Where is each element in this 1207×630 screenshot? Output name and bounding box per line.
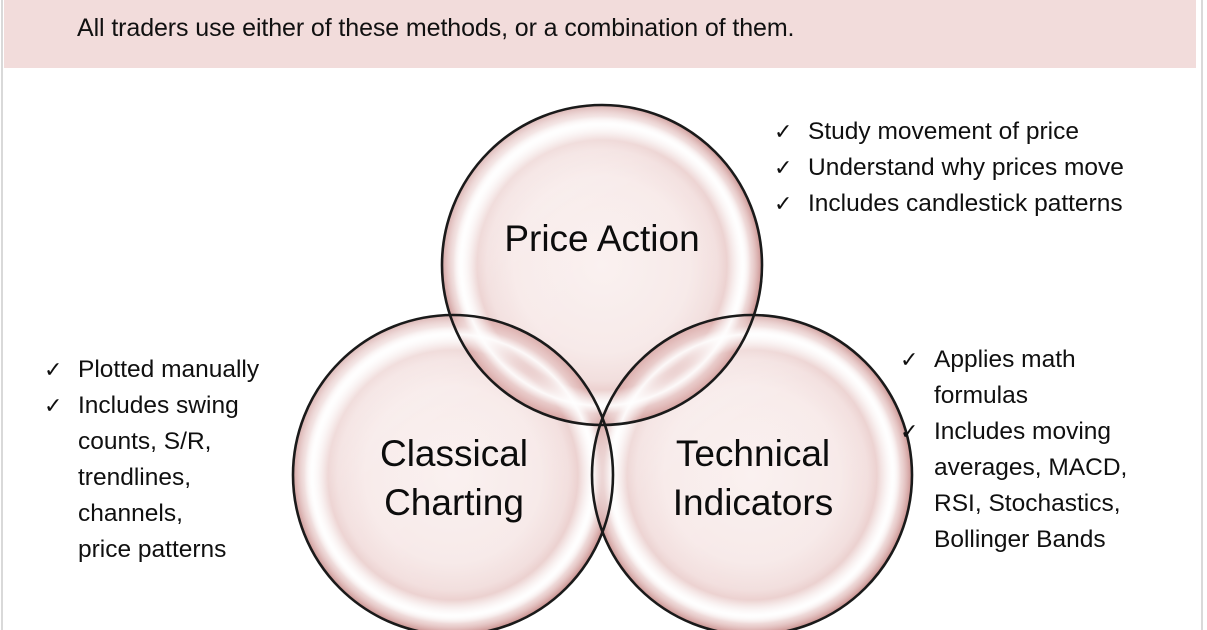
list-item-label: Plotted manually: [78, 352, 324, 388]
list-item-label: Includes candlestick patterns: [808, 186, 1194, 222]
list-item-label: Includes swing counts, S/R, trendlines, …: [78, 388, 324, 568]
list-item: ✓ Plotted manually: [44, 352, 324, 388]
list-item: ✓ Includes moving averages, MACD, RSI, S…: [900, 414, 1200, 558]
check-icon: ✓: [900, 342, 934, 378]
check-icon: ✓: [44, 388, 78, 424]
bullet-list-technical-indicators: ✓ Applies math formulas ✓ Includes movin…: [900, 342, 1200, 558]
list-item: ✓ Applies math formulas: [900, 342, 1200, 414]
list-item-label: Applies math formulas: [934, 342, 1200, 414]
bullet-list-classical-charting: ✓ Plotted manually ✓ Includes swing coun…: [44, 352, 324, 568]
check-icon: ✓: [44, 352, 78, 388]
list-item: ✓ Understand why prices move: [774, 150, 1194, 186]
check-icon: ✓: [774, 150, 808, 186]
list-item: ✓ Includes swing counts, S/R, trendlines…: [44, 388, 324, 568]
slide-canvas: All traders use either of these methods,…: [0, 0, 1207, 630]
list-item: ✓ Study movement of price: [774, 114, 1194, 150]
list-item-label: Understand why prices move: [808, 150, 1194, 186]
list-item-label: Includes moving averages, MACD, RSI, Sto…: [934, 414, 1200, 558]
bullet-list-price-action: ✓ Study movement of price ✓ Understand w…: [774, 114, 1194, 222]
check-icon: ✓: [774, 114, 808, 150]
check-icon: ✓: [900, 414, 934, 450]
list-item-label: Study movement of price: [808, 114, 1194, 150]
list-item: ✓ Includes candlestick patterns: [774, 186, 1194, 222]
check-icon: ✓: [774, 186, 808, 222]
